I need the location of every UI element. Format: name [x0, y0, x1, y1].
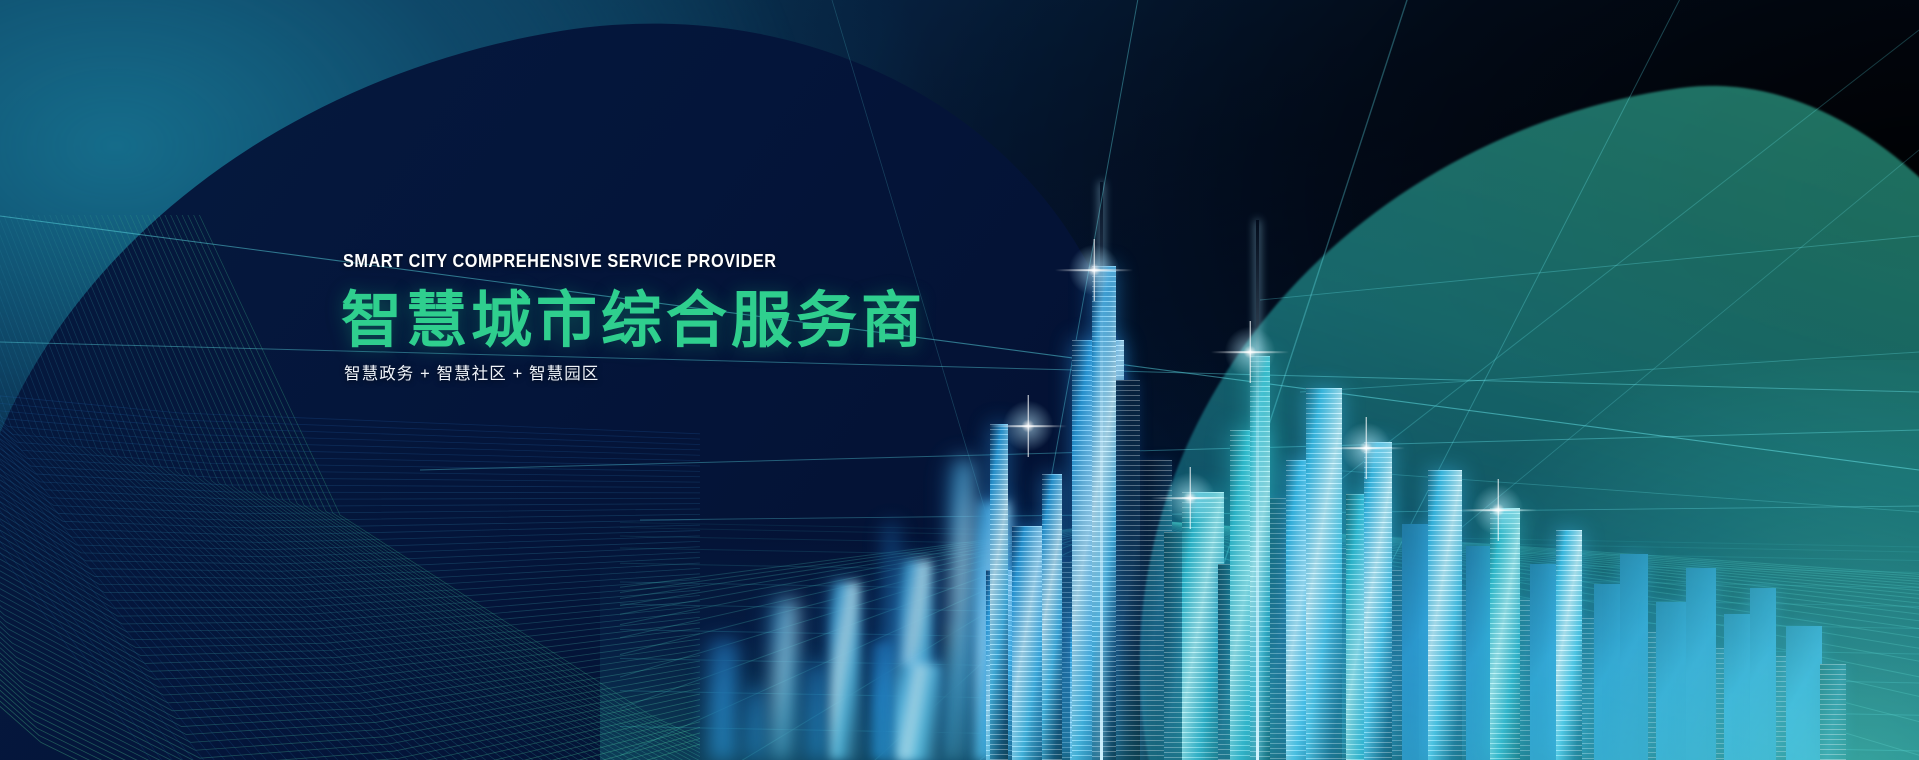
green-corner-glow	[1419, 360, 1919, 760]
hero-banner: SMART CITY COMPREHENSIVE SERVICE PROVIDE…	[0, 0, 1919, 760]
banner-headline: 智慧城市综合服务商	[341, 289, 926, 352]
light-sparkle	[1065, 241, 1123, 299]
hero-text-block: SMART CITY COMPREHENSIVE SERVICE PROVIDE…	[341, 252, 926, 382]
banner-subline: 智慧政务 + 智慧社区 + 智慧园区	[344, 366, 926, 383]
banner-eyebrow: SMART CITY COMPREHENSIVE SERVICE PROVIDE…	[343, 252, 856, 271]
light-sparkle	[999, 397, 1057, 455]
